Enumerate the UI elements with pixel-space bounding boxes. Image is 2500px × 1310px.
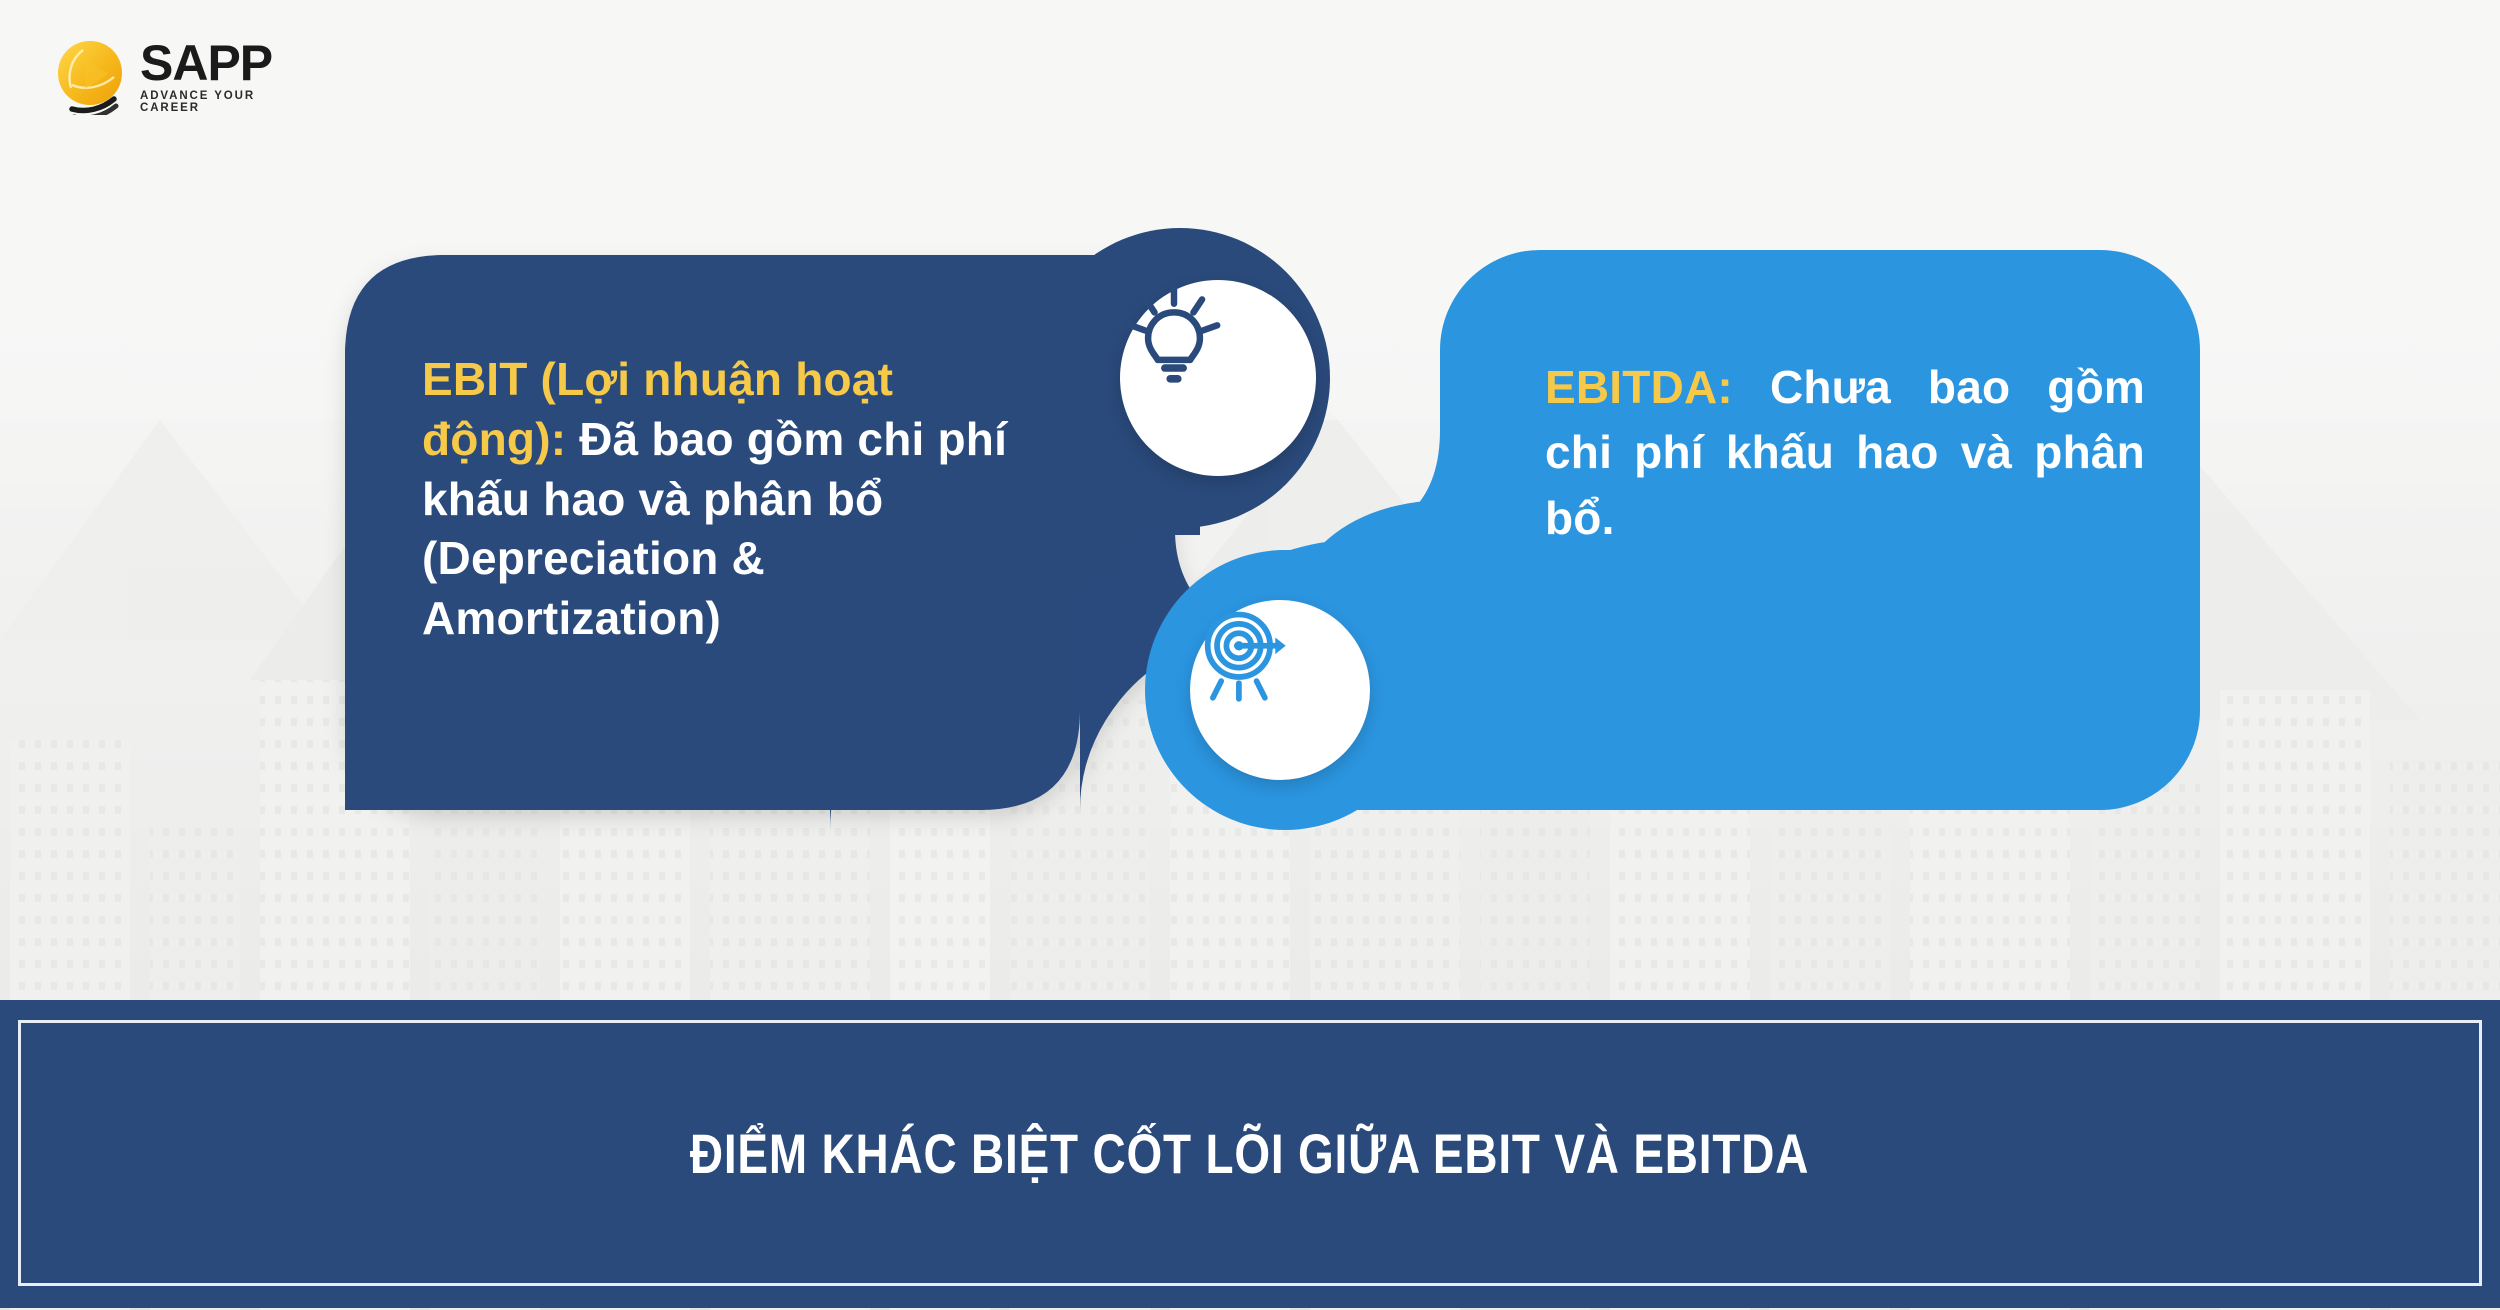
banner-title: ĐIỂM KHÁC BIỆT CỐT LÕI GIỮA EBIT VÀ EBIT… bbox=[690, 1121, 1809, 1186]
cards-group: EBIT (Lợi nhuận hoạt động): Đã bao gồm c… bbox=[0, 0, 2500, 1000]
banner-inner-border: ĐIỂM KHÁC BIỆT CỐT LÕI GIỮA EBIT VÀ EBIT… bbox=[18, 1020, 2482, 1286]
ebitda-icon-bubble bbox=[1190, 600, 1370, 780]
ebitda-heading: EBITDA: bbox=[1545, 361, 1733, 413]
ebit-icon-bubble bbox=[1120, 280, 1316, 476]
ebitda-card-text: EBITDA: Chưa bao gồm chi phí khấu hao và… bbox=[1545, 355, 2145, 551]
bottom-banner: ĐIỂM KHÁC BIỆT CỐT LÕI GIỮA EBIT VÀ EBIT… bbox=[0, 1000, 2500, 1308]
ebit-card-text: EBIT (Lợi nhuận hoạt động): Đã bao gồm c… bbox=[422, 350, 1012, 649]
